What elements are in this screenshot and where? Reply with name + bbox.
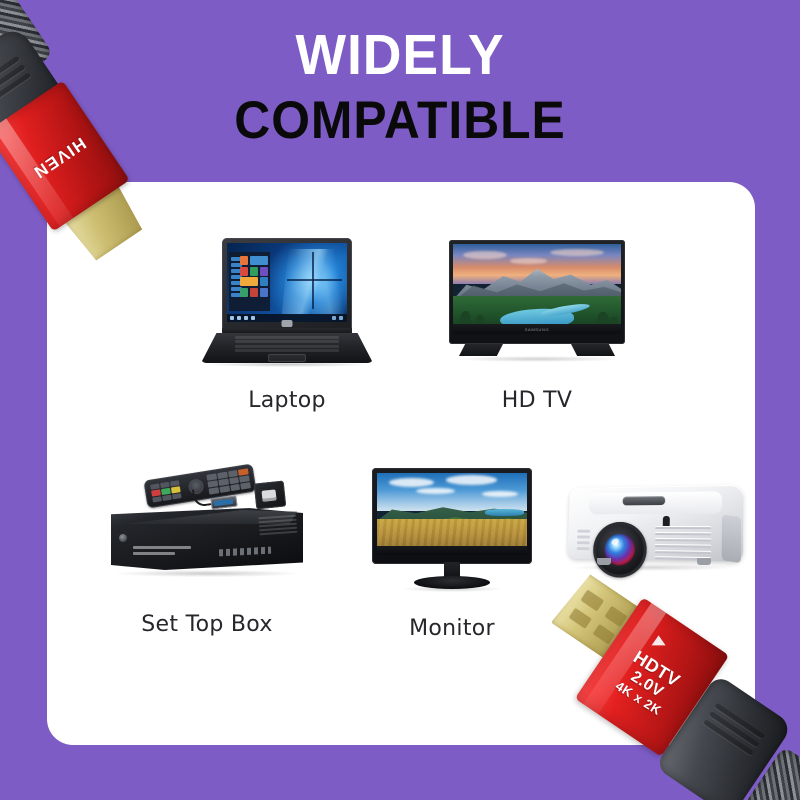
monitor-screen bbox=[377, 473, 527, 555]
start-menu-tiles bbox=[240, 256, 268, 307]
power-adapter bbox=[254, 481, 287, 510]
tv-screen: SAMSUNG bbox=[453, 244, 621, 334]
device-hdtv: SAMSUNG HD TV bbox=[387, 238, 687, 428]
headline-line-2: COMPATIBLE bbox=[24, 90, 776, 152]
hdmi-cable-bottom-right: HDTV 2.0V 4K x 2K bbox=[530, 530, 800, 800]
monitor-chin bbox=[377, 546, 527, 555]
tv-foot-left bbox=[459, 344, 503, 356]
projector-handle bbox=[623, 496, 666, 505]
set-top-box-shadow bbox=[115, 570, 299, 577]
tv-brand-label: SAMSUNG bbox=[525, 327, 549, 332]
front-display bbox=[219, 547, 271, 557]
laptop-screen bbox=[227, 243, 347, 322]
windows-logo-cross bbox=[287, 252, 342, 309]
laptop-shadow bbox=[205, 362, 369, 367]
tv-bezel: SAMSUNG bbox=[449, 240, 625, 344]
laptop-touchpad bbox=[268, 354, 306, 362]
set-top-box-vents bbox=[258, 515, 297, 540]
monitor-scene-water bbox=[485, 509, 524, 516]
power-button[interactable] bbox=[119, 534, 127, 542]
cable-spec-block: HDTV 2.0V 4K x 2K bbox=[613, 648, 683, 718]
monitor-shadow bbox=[402, 586, 502, 592]
laptop-brand-logo bbox=[282, 320, 293, 327]
laptop-lid bbox=[222, 238, 352, 331]
tv-chin: SAMSUNG bbox=[453, 324, 621, 334]
vga-connector bbox=[210, 495, 237, 509]
monitor-bezel bbox=[372, 468, 532, 564]
set-top-box-front-panel bbox=[115, 528, 265, 562]
triangle-marker-icon bbox=[652, 635, 666, 645]
tv-foot-right bbox=[571, 344, 615, 356]
headline-line-1: WIDELY bbox=[24, 24, 776, 86]
laptop-keyboard bbox=[235, 336, 338, 352]
tv-shadow bbox=[455, 356, 619, 362]
headline-block: WIDELY COMPATIBLE bbox=[0, 24, 800, 152]
windows-start-menu bbox=[229, 252, 270, 311]
product-infographic: WIDELY COMPATIBLE bbox=[0, 0, 800, 800]
device-label-hdtv: HD TV bbox=[387, 388, 687, 413]
